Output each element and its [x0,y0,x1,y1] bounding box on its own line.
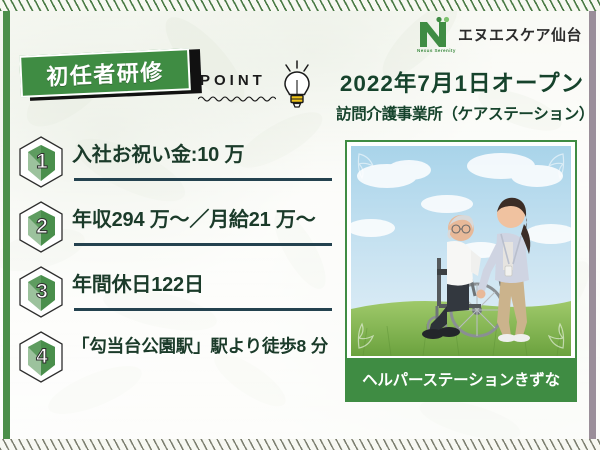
benefit-text: 「勾当台公園駅」駅より徒歩8 分 [72,333,334,358]
wavy-underline-decoration [198,94,276,102]
hexagon-number-badge: 1 [18,136,64,188]
row-divider [74,308,332,311]
hexagon-number-badge: 2 [18,201,64,253]
company-name: エヌエスケア仙台 [458,24,582,45]
badge-number: 3 [18,266,65,318]
headline-block: 2022年7月1日オープン 訪問介護事業所（ケアステーション） [336,66,588,124]
recruitment-poster: 初任者研修 POINT [0,0,600,450]
lightbulb-icon [280,60,314,110]
left-column: 初任者研修 POINT [14,14,334,434]
qualification-banner: 初任者研修 [20,50,196,98]
logo-tagline: Nexus Serenity [417,48,456,53]
company-logo: Nexus Serenity エヌエスケア仙台 [417,16,582,56]
row-divider [74,178,332,181]
logo-n-glyph [417,16,451,50]
photo-caption-bar: ヘルパーステーションきずな [347,358,575,400]
hatched-strip-bottom [0,439,600,450]
badge-number: 1 [18,136,65,188]
hexagon-number-badge: 3 [18,266,64,318]
photo-card: ヘルパーステーションきずな [345,140,577,402]
badge-number: 2 [18,201,65,253]
benefit-text: 入社お祝い金:10 万 [72,138,334,167]
hexagon-number-badge: 4 [18,331,64,383]
facility-photo [351,146,571,356]
banner-plate: 初任者研修 [19,48,191,98]
benefit-text: 年収294 万〜／月給21 万〜 [72,203,334,232]
gray-edge-bar [589,11,596,439]
photo-caption: ヘルパーステーションきずな [362,368,560,390]
right-column: Nexus Serenity エヌエスケア仙台 2022年7月1日オープン 訪問… [336,14,588,434]
headline-main: 2022年7月1日オープン [336,66,588,98]
hatched-strip-top [0,0,600,11]
row-divider [74,243,332,246]
benefits-list: 1 入社お祝い金:10 万 2 年収294 万〜／月給21 万〜 [14,132,334,392]
point-label: POINT [200,72,266,89]
point-callout: POINT [200,64,320,116]
benefit-text: 年間休日122日 [72,268,334,297]
list-item: 3 年間休日122日 [14,262,334,327]
green-edge-bar [3,11,10,439]
badge-number: 4 [18,331,65,383]
headline-sub: 訪問介護事業所（ケアステーション） [336,102,588,124]
nexus-n-logo-icon: Nexus Serenity [417,16,451,56]
banner-label: 初任者研修 [46,54,165,91]
list-item: 1 入社お祝い金:10 万 [14,132,334,197]
photo-illustration [351,146,571,356]
list-item: 2 年収294 万〜／月給21 万〜 [14,197,334,262]
list-item: 4 「勾当台公園駅」駅より徒歩8 分 [14,327,334,392]
